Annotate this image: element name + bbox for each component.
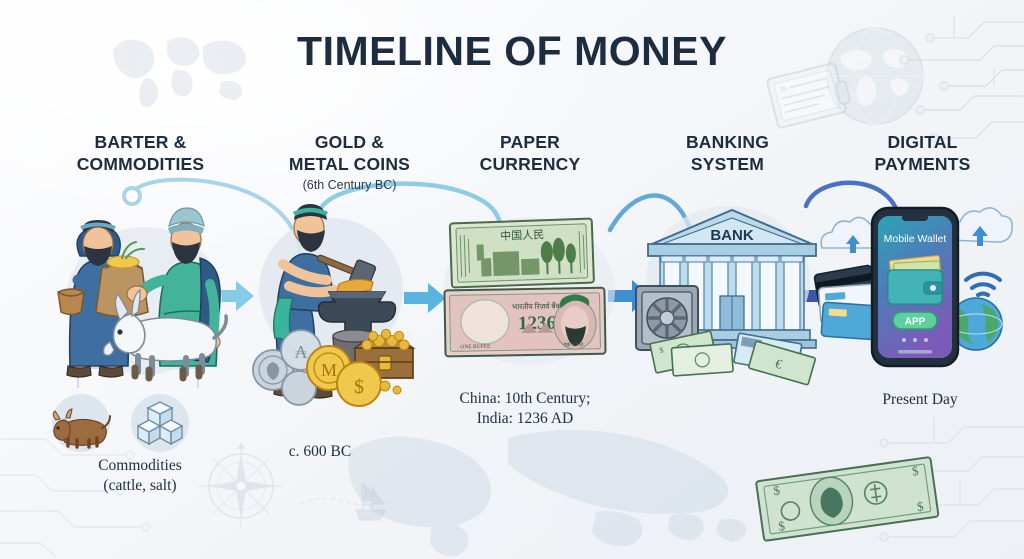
illustration-bank-system: BANK bbox=[636, 200, 821, 365]
stage-heading-banking-system: BANKING SYSTEM bbox=[640, 131, 815, 176]
caption-line2: India: 1236 AD bbox=[415, 409, 635, 429]
illustration-blacksmith-coins: ₳ M $ bbox=[243, 198, 423, 398]
indian-banknote: भारतीय रिज़र्व बैंक 1236 ONE RUPEE एक रु… bbox=[444, 288, 605, 357]
circuit-traces-background-icon bbox=[764, 409, 1024, 559]
svg-text:$: $ bbox=[772, 482, 781, 498]
svg-text:M: M bbox=[321, 360, 337, 380]
chinese-banknote: 中国人民 bbox=[450, 219, 594, 288]
caption-digital-payments: Present Day bbox=[820, 390, 1020, 410]
dollar-bill-background-icon: $ $ $ $ bbox=[745, 455, 950, 540]
stage-heading-line2: SYSTEM bbox=[691, 154, 764, 174]
chinese-note-script: 中国人民 bbox=[500, 228, 544, 243]
svg-text:$: $ bbox=[911, 463, 920, 479]
stage-heading-line1: BANKING bbox=[686, 132, 769, 152]
stage-heading-line2: COMMODITIES bbox=[77, 154, 205, 174]
stage-heading-gold-metal-coins: GOLD & METAL COINS (6th Century BC) bbox=[252, 131, 447, 192]
caption-line1: China: 10th Century; bbox=[415, 389, 635, 409]
world-map-background-icon bbox=[340, 420, 760, 559]
caption-line1: c. 600 BC bbox=[245, 442, 395, 462]
stage-subtitle: (6th Century BC) bbox=[252, 178, 447, 192]
infographic-poster: $ $ $ $ TIMELINE OF MONEY bbox=[0, 0, 1024, 559]
bank-sign-label: BANK bbox=[710, 227, 753, 244]
stage-heading-line1: GOLD & bbox=[315, 132, 384, 152]
smartphone-mobile-wallet: Mobile Wallet APP bbox=[872, 208, 958, 366]
stage-heading-line2: PAYMENTS bbox=[875, 154, 971, 174]
stage-heading-digital-payments: DIGITAL PAYMENTS bbox=[830, 131, 1015, 176]
indian-note-script: भारतीय रिज़र्व बैंक bbox=[512, 301, 562, 311]
caption-line1: Present Day bbox=[820, 390, 1020, 410]
stage-heading-line1: PAPER bbox=[500, 132, 560, 152]
illustration-barter-traders bbox=[40, 196, 240, 386]
caption-gold-metal-coins: c. 600 BC bbox=[245, 442, 395, 462]
stage-heading-line2: CURRENCY bbox=[480, 154, 581, 174]
svg-text:$: $ bbox=[354, 376, 364, 398]
caption-line2: (cattle, salt) bbox=[45, 476, 235, 496]
app-button[interactable]: APP bbox=[893, 312, 937, 329]
caption-barter: Commodities (cattle, salt) bbox=[45, 456, 235, 497]
caption-paper-currency: China: 10th Century; India: 1236 AD bbox=[415, 389, 635, 430]
stage-heading-barter: BARTER & COMMODITIES bbox=[38, 131, 243, 176]
illustration-paper-banknotes: 中国人民 भारतीय रिज़र्व बैंक 1236 bbox=[437, 213, 622, 373]
svg-text:$: $ bbox=[916, 498, 925, 514]
caption-line1: Commodities bbox=[45, 456, 235, 476]
phone-screen-title: Mobile Wallet bbox=[884, 233, 947, 245]
stage-heading-paper-currency: PAPER CURRENCY bbox=[440, 131, 620, 176]
svg-text:$: $ bbox=[777, 518, 786, 534]
svg-text:₳: ₳ bbox=[295, 342, 308, 362]
wallet-icon[interactable] bbox=[888, 255, 942, 304]
stage-heading-line2: METAL COINS bbox=[289, 154, 410, 174]
indian-note-bottom-left: ONE RUPEE bbox=[460, 344, 491, 351]
page-title: TIMELINE OF MONEY bbox=[0, 28, 1024, 75]
sailing-ship-background-icon bbox=[300, 470, 390, 525]
stage-heading-line1: DIGITAL bbox=[887, 132, 957, 152]
stage-heading-line1: BARTER & bbox=[94, 132, 186, 152]
app-button-label: APP bbox=[905, 317, 926, 328]
indian-note-bottom-right: एक रुपया bbox=[564, 342, 584, 348]
illustration-digital-payments: Mobile Wallet APP bbox=[820, 200, 1010, 375]
commodity-badges bbox=[48, 392, 193, 454]
